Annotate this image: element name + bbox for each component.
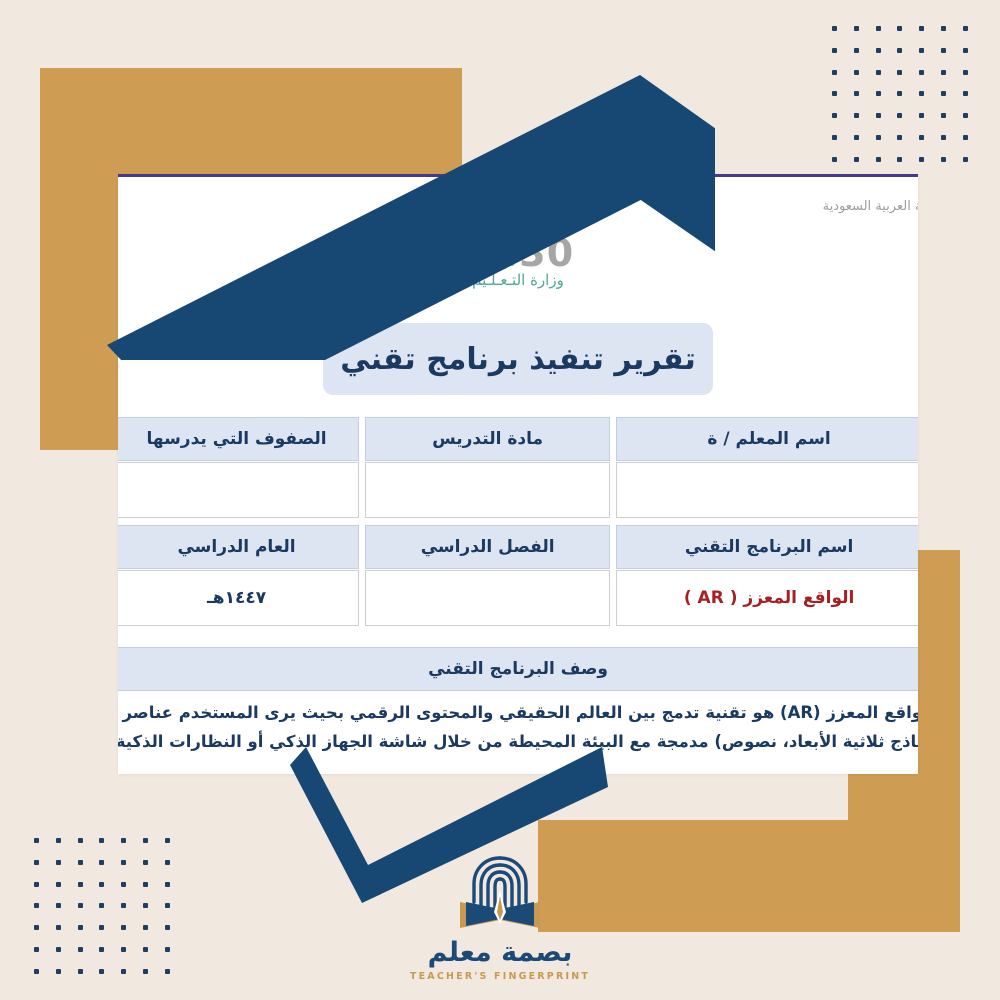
dot-grid-bottom-left — [26, 830, 178, 982]
header-teacher-name: اسم المعلم / ة — [616, 417, 918, 461]
description-line-1: الواقع المعزز (AR) هو تقنية تدمج بين الع… — [118, 699, 918, 728]
poster-canvas: المملكة العربية السعودية VISION رؤيـــة … — [0, 0, 1000, 1000]
program-description-body: الواقع المعزز (AR) هو تقنية تدمج بين الع… — [118, 699, 918, 757]
program-info-value-row[interactable]: الواقع المعزز ( AR ) ١٤٤٧هـ — [118, 570, 918, 626]
program-info-header-row: اسم البرنامج التقني الفصل الدراسي العام … — [118, 525, 918, 569]
program-description-header: وصف البرنامج التقني — [118, 647, 918, 691]
report-title-banner: تقرير تنفيذ برنامج تقني — [323, 323, 713, 395]
document-header-kingdom-text: المملكة العربية السعودية — [823, 199, 918, 214]
document-preview[interactable]: المملكة العربية السعودية VISION رؤيـــة … — [118, 174, 918, 774]
brand-name-arabic: بصمة معلم — [395, 938, 605, 968]
vision-dots-pattern — [458, 191, 578, 213]
brand-name-english: TEACHER'S FINGERPRINT — [395, 971, 605, 982]
brand-logo: بصمة معلم TEACHER'S FINGERPRINT — [395, 850, 605, 982]
page-title: تقرير تنفيذ برنامج تقني — [340, 342, 696, 377]
teacher-info-value-row[interactable] — [118, 462, 918, 518]
value-subject[interactable] — [365, 462, 610, 518]
value-academic-year[interactable]: ١٤٤٧هـ — [118, 570, 359, 626]
vision-year: 230 — [443, 234, 593, 272]
value-teacher-name[interactable] — [616, 462, 918, 518]
header-grades-taught: الصفوف التي يدرسها — [118, 417, 359, 461]
description-line-2: نماذج ثلاثية الأبعاد، نصوص) مدمجة مع الب… — [118, 728, 918, 757]
header-program-name: اسم البرنامج التقني — [616, 525, 918, 569]
vision-star-icon — [489, 240, 519, 270]
value-program-name[interactable]: الواقع المعزز ( AR ) — [616, 570, 918, 626]
fingerprint-book-icon — [450, 850, 550, 936]
value-semester[interactable] — [365, 570, 610, 626]
dot-grid-top-right — [824, 18, 976, 170]
vision-2030-logo: VISION رؤيـــة 230 وزارة التـعـلـيم — [443, 191, 593, 289]
header-semester: الفصل الدراسي — [365, 525, 610, 569]
teacher-info-header-row: اسم المعلم / ة مادة التدريس الصفوف التي … — [118, 417, 918, 461]
header-academic-year: العام الدراسي — [118, 525, 359, 569]
corner-decoration-top-left-gold-horizontal — [40, 68, 462, 180]
header-subject: مادة التدريس — [365, 417, 610, 461]
value-grades-taught[interactable] — [118, 462, 359, 518]
